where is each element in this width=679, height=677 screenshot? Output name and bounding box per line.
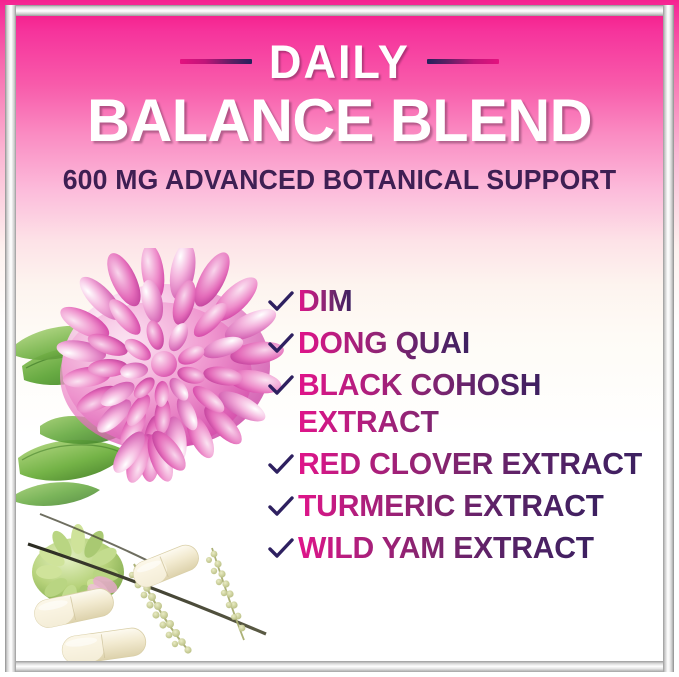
list-item: BLACK COHOSH EXTRACT [268, 366, 663, 440]
check-icon [268, 324, 298, 355]
label-header: DAILY BALANCE BLEND 600 MG ADVANCED BOTA… [16, 16, 663, 195]
list-item: DONG QUAI [268, 324, 663, 361]
title-line-2: BALANCE BLEND [19, 91, 660, 151]
check-icon [268, 282, 298, 313]
ingredient-name: WILD YAM EXTRACT [298, 529, 594, 566]
ingredient-list: DIM DONG QUAI BLACK COHOSH EXTRACT [268, 282, 663, 571]
ingredient-name: BLACK COHOSH [298, 366, 541, 403]
product-label-image: DAILY BALANCE BLEND 600 MG ADVANCED BOTA… [0, 0, 679, 677]
eyebrow-dash-right-icon [427, 59, 499, 64]
check-icon [268, 487, 298, 518]
ingredient-name: TURMERIC EXTRACT [298, 487, 604, 524]
product-photography [16, 248, 284, 661]
ingredient-name-line2: EXTRACT [298, 403, 541, 440]
check-icon [268, 529, 298, 560]
ingredient-name: RED CLOVER EXTRACT [298, 445, 642, 482]
label-subtitle: 600 MG ADVANCED BOTANICAL SUPPORT [32, 165, 647, 195]
list-item: DIM [268, 282, 663, 319]
list-item: RED CLOVER EXTRACT [268, 445, 663, 482]
list-item: TURMERIC EXTRACT [268, 487, 663, 524]
ingredient-name: DIM [298, 282, 353, 319]
eyebrow-dash-left-icon [180, 59, 252, 64]
check-icon [268, 445, 298, 476]
label-content-plate: DAILY BALANCE BLEND 600 MG ADVANCED BOTA… [16, 16, 663, 661]
ingredient-name: DONG QUAI [298, 324, 470, 361]
title-eyebrow-row: DAILY [16, 33, 663, 89]
list-item: WILD YAM EXTRACT [268, 529, 663, 566]
check-icon [268, 366, 298, 397]
title-line-1: DAILY [269, 38, 410, 85]
